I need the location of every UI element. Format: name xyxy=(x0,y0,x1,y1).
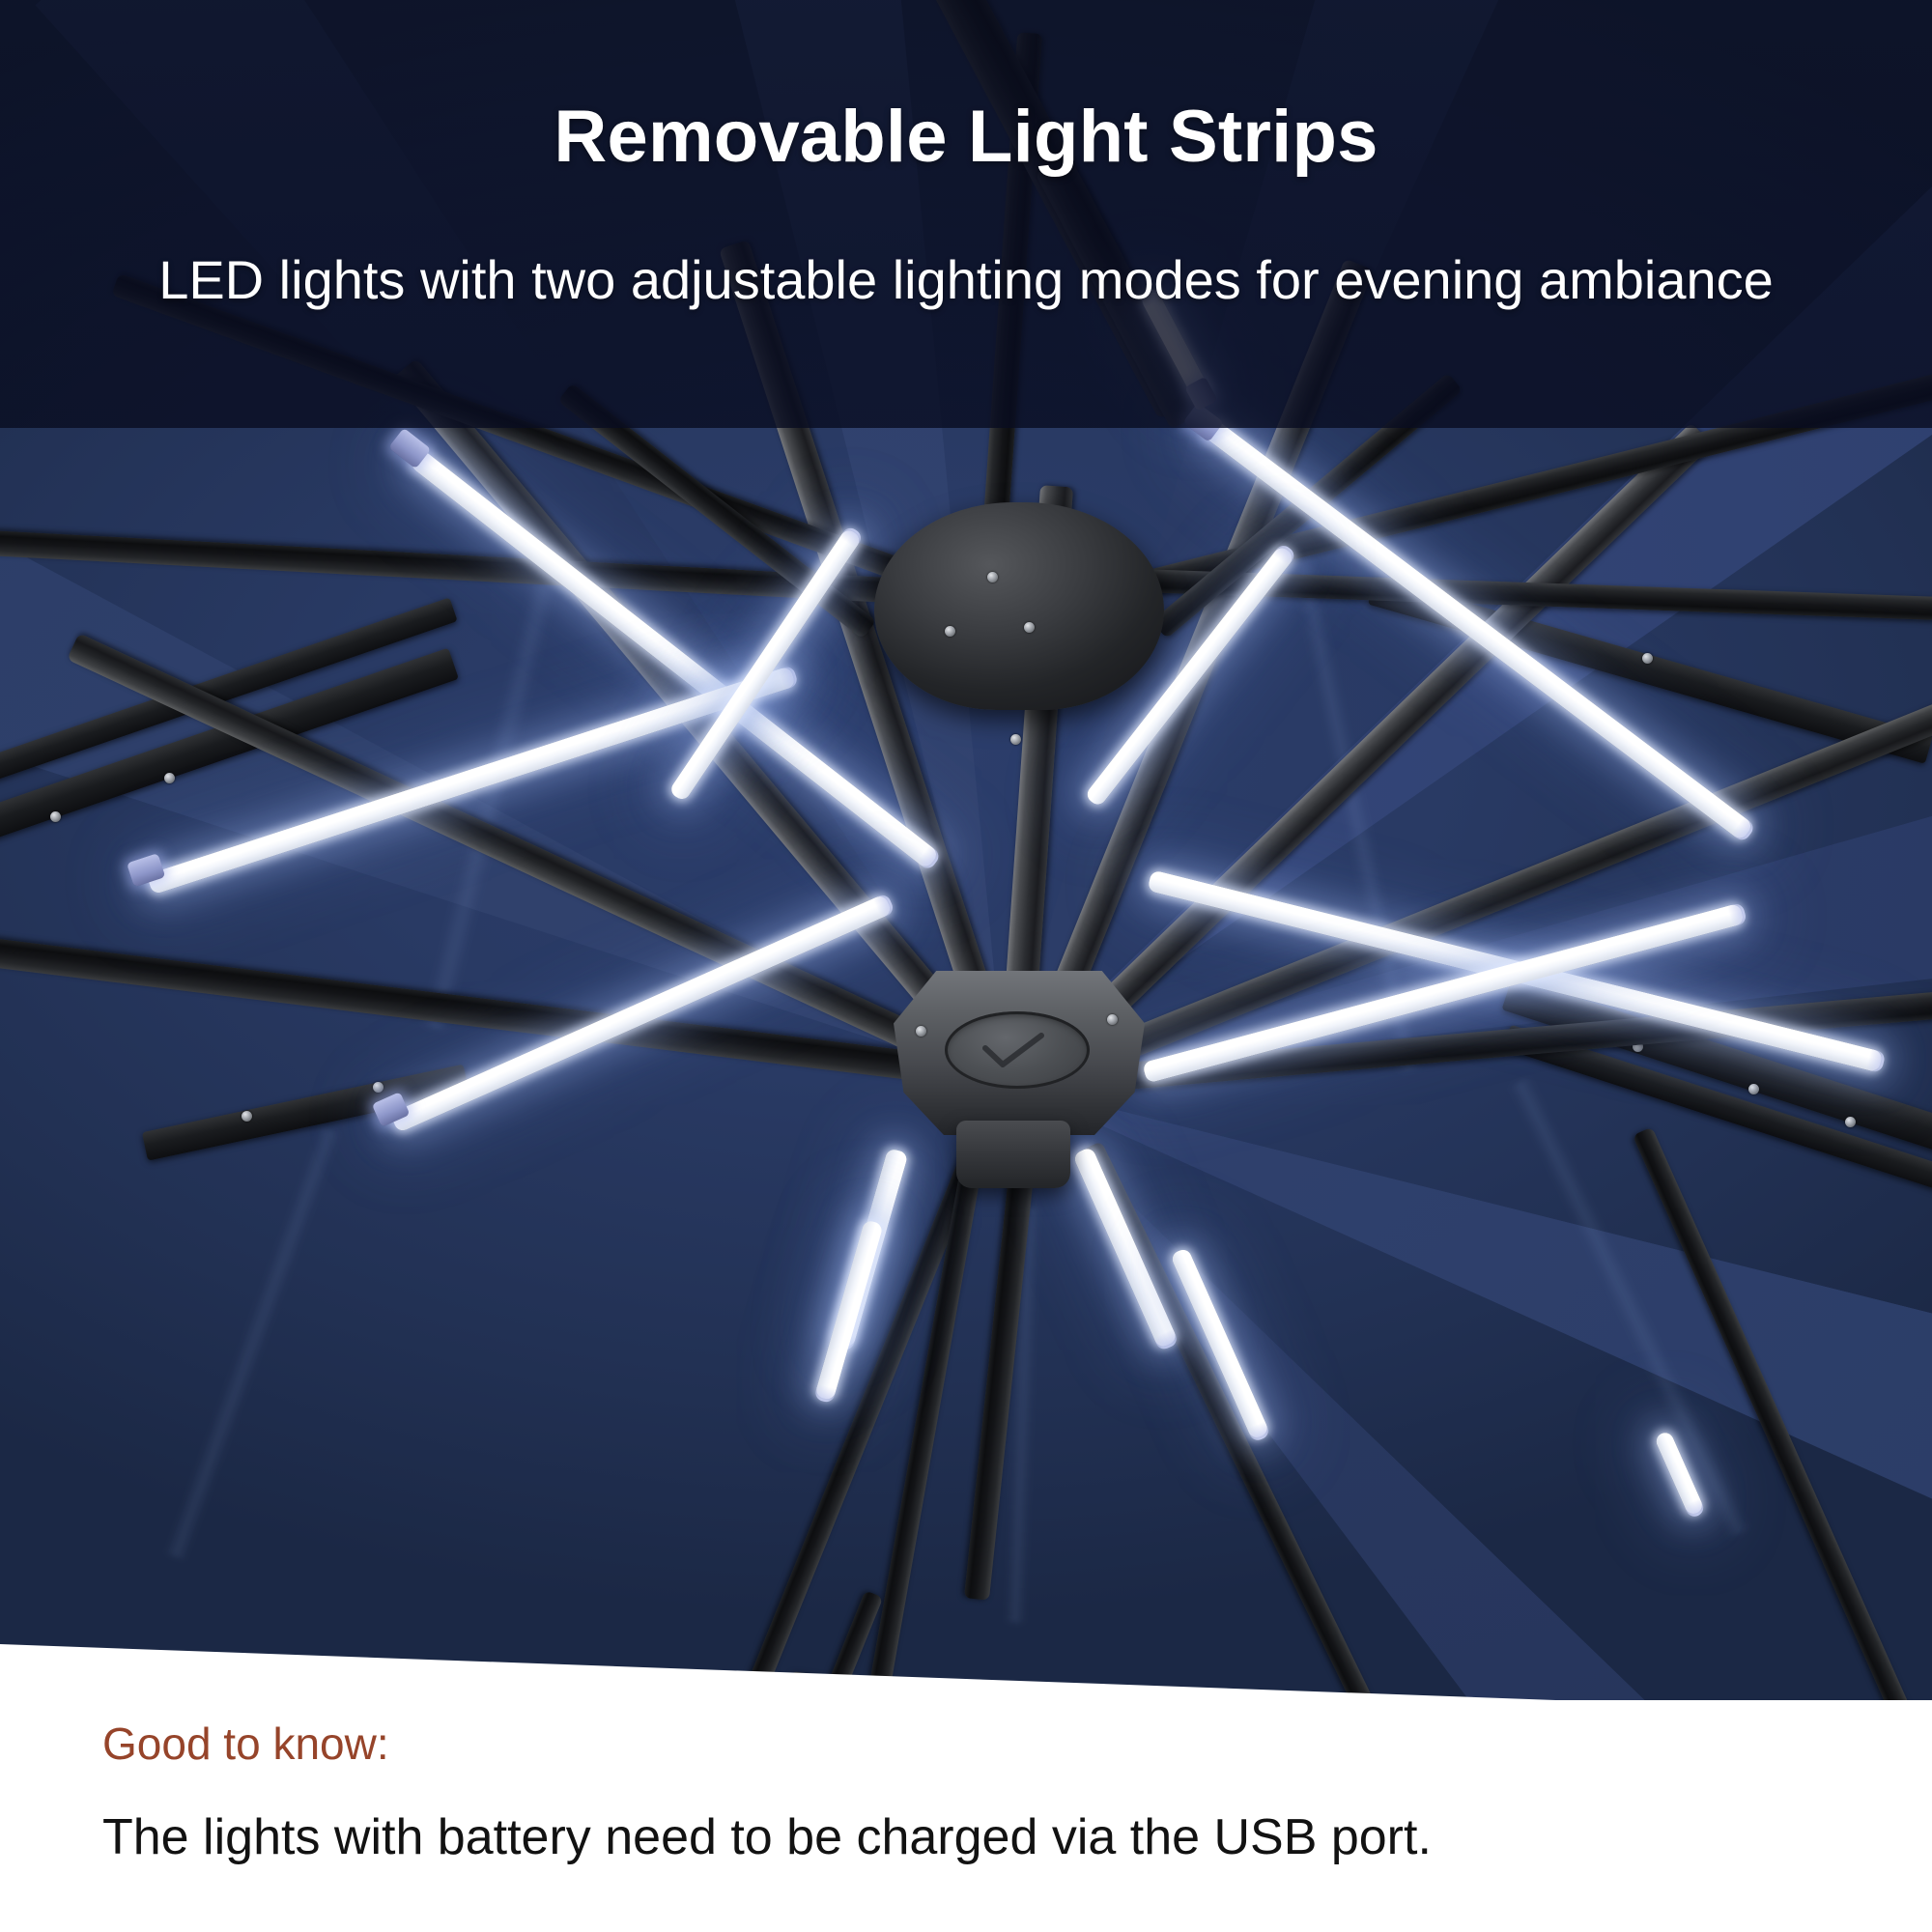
page-title: Removable Light Strips xyxy=(0,100,1932,174)
hub-collar xyxy=(956,1121,1070,1188)
upper-hub-assembly xyxy=(874,502,1164,710)
note-text: The lights with battery need to be charg… xyxy=(102,1812,1432,1862)
note-label: Good to know: xyxy=(102,1721,389,1766)
page-subtitle: LED lights with two adjustable lighting … xyxy=(0,253,1932,307)
product-feature-poster: Removable Light Strips LED lights with t… xyxy=(0,0,1932,1932)
check-mark-emblem-icon xyxy=(981,1033,1045,1069)
hub-emblem xyxy=(945,1011,1090,1089)
